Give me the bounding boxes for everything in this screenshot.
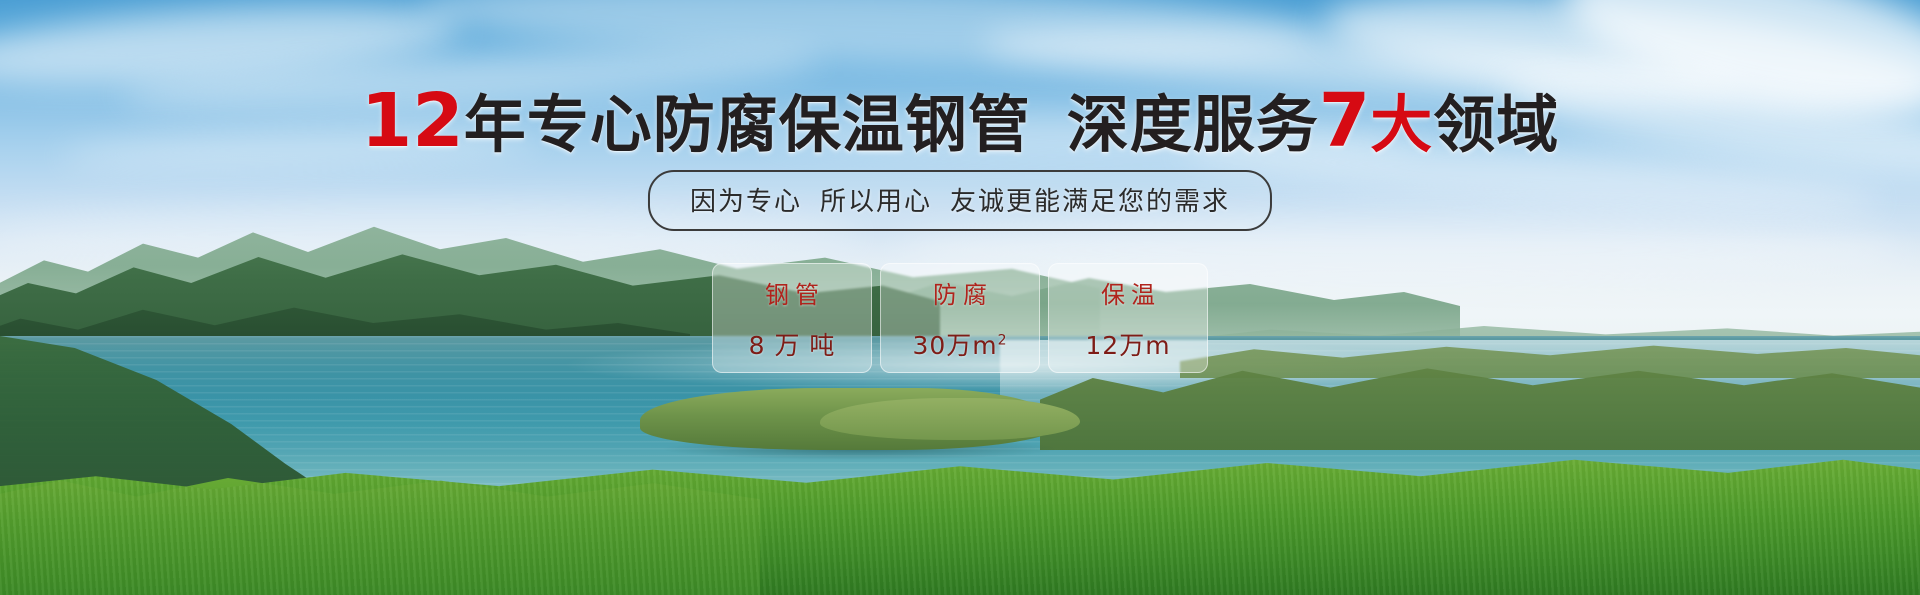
stat-card-group: 钢管 8 万 吨 防腐 30万m2 保温 12万m (712, 263, 1208, 373)
stat-value-superscript: 2 (998, 332, 1008, 348)
stat-label: 防腐 (927, 275, 993, 310)
stat-value-text: 30万m (912, 331, 997, 360)
stat-value: 30万m2 (912, 326, 1007, 362)
banner-headline: 12年专心防腐保温钢管深度服务7大领域 (0, 84, 1920, 158)
banner-subtitle-pill: 因为专心所以用心友诚更能满足您的需求 (648, 170, 1272, 231)
grass-island-tuft (820, 398, 1080, 440)
stat-card-insulation[interactable]: 保温 12万m (1048, 263, 1208, 373)
promo-banner: 12年专心防腐保温钢管深度服务7大领域 因为专心所以用心友诚更能满足您的需求 钢… (0, 0, 1920, 595)
subtitle-part-1: 因为专心 (690, 187, 802, 217)
stat-label: 钢管 (759, 275, 825, 310)
headline-text-service: 深度服务 (1067, 88, 1319, 161)
stat-value: 12万m (1085, 326, 1170, 362)
headline-years-number: 12 (361, 78, 464, 164)
headline-text-main: 年专心防腐保温钢管 (464, 88, 1031, 161)
stat-value: 8 万 吨 (749, 326, 836, 362)
stat-card-anticorrosion[interactable]: 防腐 30万m2 (880, 263, 1040, 373)
headline-text-fields: 领域 (1433, 88, 1559, 161)
stat-card-steel-pipe[interactable]: 钢管 8 万 吨 (712, 263, 872, 373)
headline-fields-number: 7 (1319, 78, 1371, 164)
stat-value-text: 8 万 吨 (749, 331, 836, 360)
stat-label: 保温 (1095, 275, 1161, 310)
subtitle-part-2: 所以用心 (820, 187, 932, 217)
stat-value-text: 12万m (1085, 331, 1170, 360)
headline-fields-counter: 大 (1370, 88, 1433, 161)
subtitle-part-3: 友诚更能满足您的需求 (950, 187, 1230, 217)
